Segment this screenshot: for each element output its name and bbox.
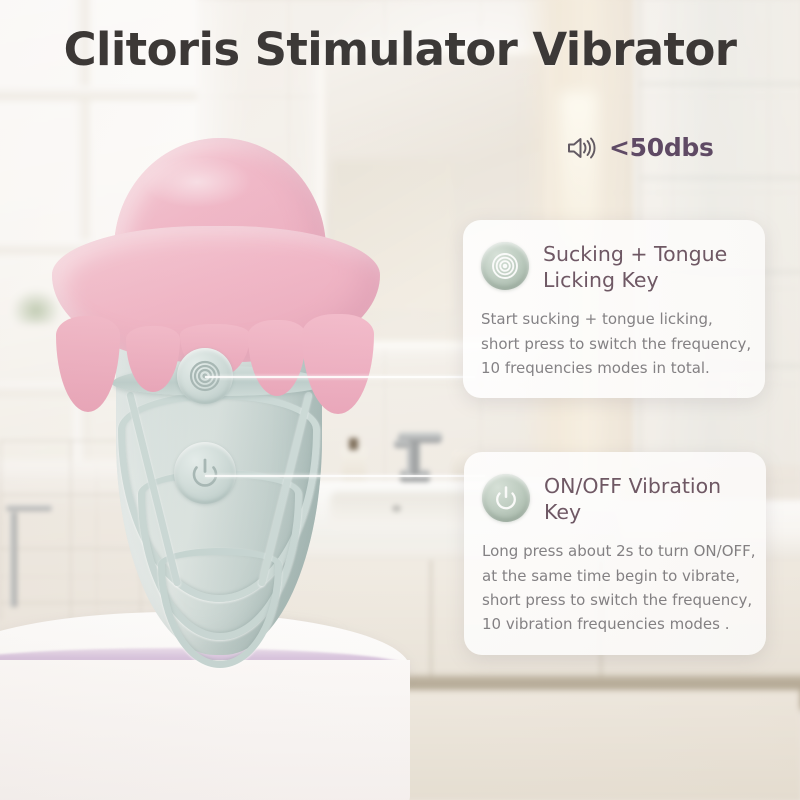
card-body-line: Long press about 2s to turn ON/OFF,	[482, 539, 746, 563]
scoop-highlight	[142, 156, 252, 208]
card-body-line: Start sucking + tongue licking,	[481, 307, 745, 331]
card-header: Sucking + Tongue Licking Key	[481, 240, 745, 293]
leader-line-power	[205, 475, 485, 477]
card-title: Sucking + Tongue Licking Key	[543, 240, 727, 293]
card-body: Long press about 2s to turn ON/OFF, at t…	[482, 539, 746, 636]
noise-level-text: <50dbs	[609, 133, 714, 162]
power-icon	[491, 483, 521, 513]
card-body-line: 10 frequencies modes in total.	[481, 356, 745, 380]
sucking-key-icon-badge	[481, 242, 529, 290]
card-body: Start sucking + tongue licking, short pr…	[481, 307, 745, 380]
drip	[56, 316, 120, 412]
round-table-body	[0, 660, 410, 800]
page-title: Clitoris Stimulator Vibrator	[0, 26, 800, 73]
card-header: ON/OFF Vibration Key	[482, 472, 746, 525]
card-title-line2: Key	[544, 500, 581, 524]
noise-level-badge: <50dbs	[566, 133, 714, 162]
card-body-line: 10 vibration frequencies modes .	[482, 612, 746, 636]
callout-card-power: ON/OFF Vibration Key Long press about 2s…	[464, 452, 766, 655]
card-body-line: short press to switch the frequency,	[481, 332, 745, 356]
product-marketing-image: Clitoris Stimulator Vibrator <50dbs	[0, 0, 800, 800]
card-body-line: at the same time begin to vibrate,	[482, 564, 746, 588]
callout-card-sucking: Sucking + Tongue Licking Key Start sucki…	[463, 220, 765, 398]
concentric-circles-icon	[490, 251, 520, 281]
towel-rail-post	[10, 512, 17, 607]
leader-line-sucking	[205, 376, 475, 378]
card-body-line: short press to switch the frequency,	[482, 588, 746, 612]
product-image	[30, 130, 400, 660]
card-title-line2: Licking Key	[543, 268, 659, 292]
speaker-sound-icon	[566, 134, 600, 162]
power-key-icon-badge	[482, 474, 530, 522]
power-icon	[186, 454, 224, 492]
power-button[interactable]	[174, 442, 236, 504]
card-title-line1: Sucking + Tongue	[543, 242, 727, 266]
card-title: ON/OFF Vibration Key	[544, 472, 721, 525]
card-title-line1: ON/OFF Vibration	[544, 474, 721, 498]
